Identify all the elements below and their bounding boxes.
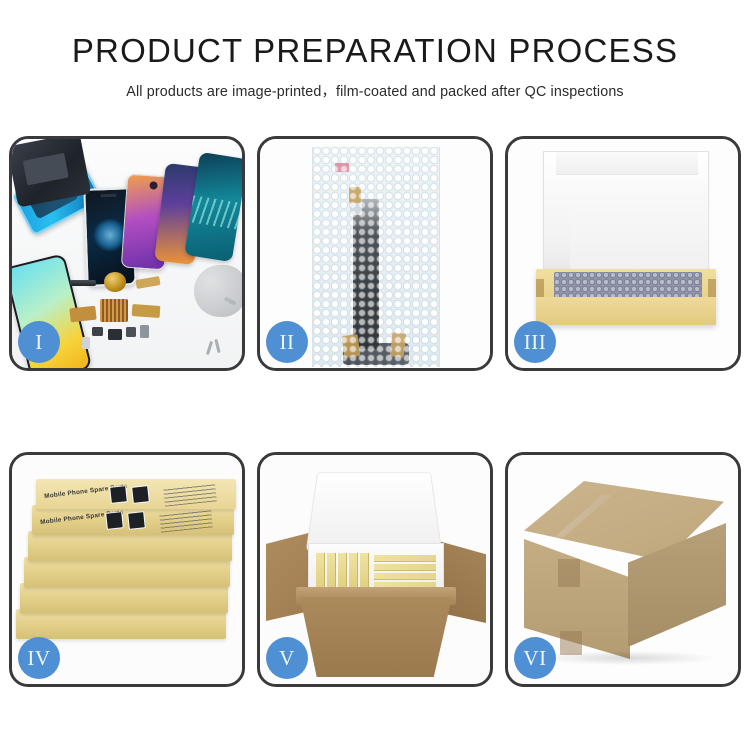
- process-step-1: I: [9, 136, 245, 371]
- product-photo-icon: [109, 485, 128, 504]
- product-photo-icon: [105, 511, 124, 530]
- carton-front-panel: [300, 597, 452, 677]
- small-component-icon: [92, 327, 103, 336]
- process-step-grid: I II: [9, 136, 742, 687]
- retail-box: [16, 609, 226, 639]
- step-badge: VI: [514, 637, 556, 679]
- product-photo-icon: [131, 485, 150, 504]
- retail-box: [20, 583, 228, 613]
- tape-patch-icon: [558, 559, 580, 587]
- page-title: PRODUCT PREPARATION PROCESS: [0, 34, 750, 69]
- step-badge: III: [514, 321, 556, 363]
- step-badge: IV: [18, 637, 60, 679]
- page-subtitle: All products are image-printed，film-coat…: [0, 80, 750, 101]
- chip-grid-icon: [100, 299, 128, 322]
- hand-icon: [194, 265, 242, 317]
- process-step-6: VI: [505, 452, 741, 687]
- header: PRODUCT PREPARATION PROCESS All products…: [0, 0, 750, 101]
- foam-bubble-liner: [554, 272, 702, 298]
- retail-box-top: Mobile Phone Spare Parts: [36, 479, 236, 509]
- box-spec-lines: [159, 508, 213, 532]
- wrapped-screen-assembly: [353, 199, 379, 349]
- process-step-4: Mobile Phone Spare Parts Mobile Phone Sp…: [9, 452, 245, 687]
- step-badge: I: [18, 321, 60, 363]
- bubble-wrap-sleeve: [312, 147, 440, 367]
- product-photo-icon: [127, 511, 146, 530]
- flex-cable-icon: [349, 187, 361, 203]
- sim-tray-icon: [82, 337, 90, 349]
- step-badge: V: [266, 637, 308, 679]
- small-component-icon: [126, 327, 136, 337]
- process-step-5: V: [257, 452, 493, 687]
- small-component-icon: [108, 329, 122, 340]
- product-preparation-infographic: PRODUCT PREPARATION PROCESS All products…: [0, 0, 750, 750]
- process-step-3: III: [505, 136, 741, 371]
- foam-lid: [306, 472, 442, 551]
- step-badge: II: [266, 321, 308, 363]
- metal-bracket-icon: [70, 280, 96, 286]
- retail-box: [28, 531, 232, 561]
- flex-cable-icon: [390, 332, 407, 358]
- speaker-part-icon: [104, 272, 126, 292]
- process-step-2: II: [257, 136, 493, 371]
- qc-sticker-icon: [335, 163, 349, 172]
- retail-box: Mobile Phone Spare Parts: [32, 505, 234, 535]
- retail-box: [24, 557, 230, 587]
- flex-cable-icon: [132, 304, 161, 318]
- box-spec-lines: [163, 482, 217, 506]
- small-component-icon: [140, 325, 149, 338]
- kraft-tray: [536, 269, 716, 325]
- carton-shadow: [538, 651, 716, 665]
- flex-cable-icon: [69, 306, 96, 323]
- box-lid-panel: [543, 151, 709, 281]
- flex-cable-icon: [342, 334, 361, 358]
